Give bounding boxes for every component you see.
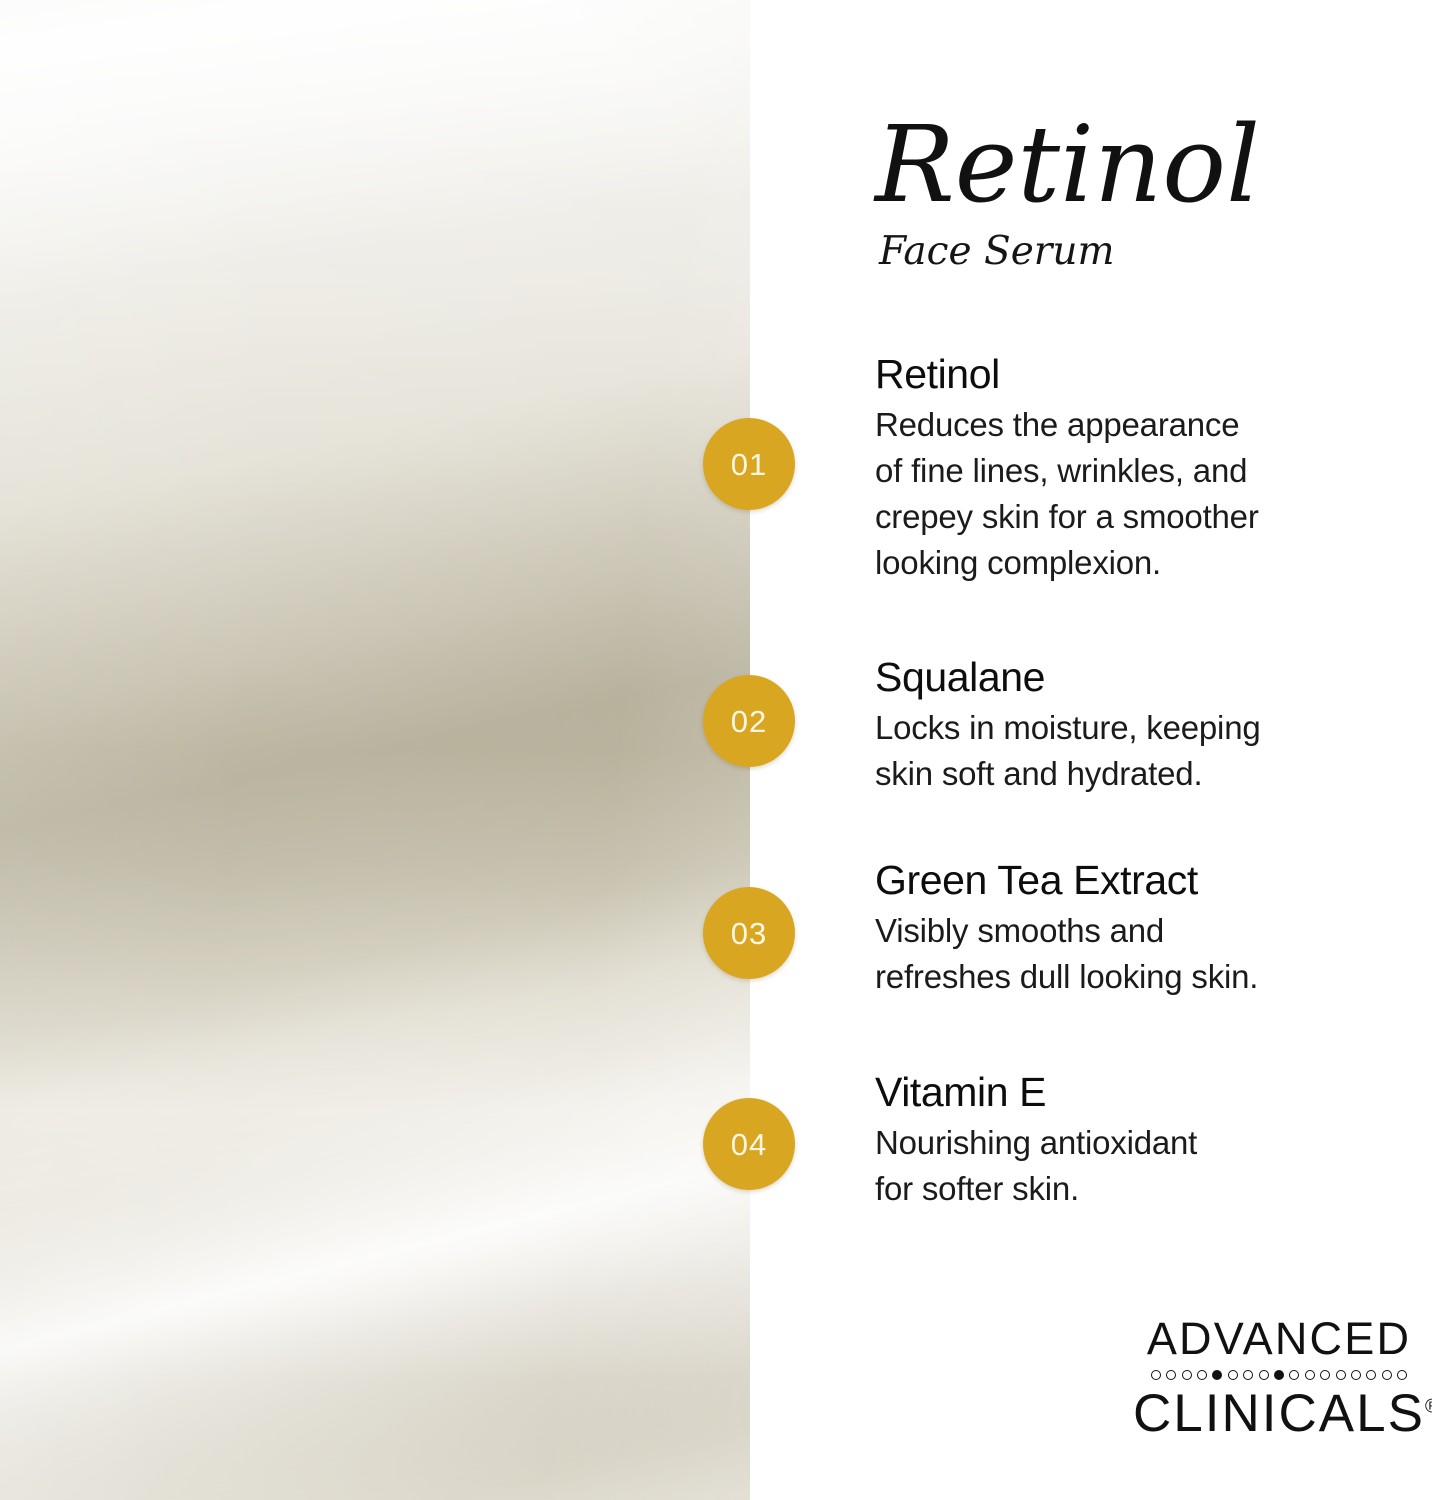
step-badge-01: 01 (703, 418, 795, 510)
brand-logo-line-top: ADVANCED (1133, 1316, 1425, 1361)
brand-dot-hollow (1320, 1370, 1330, 1380)
step-badge-number: 04 (731, 1129, 767, 1160)
brand-dot-filled (1274, 1370, 1284, 1380)
product-texture-photo (0, 0, 750, 1500)
registered-trademark-icon: ® (1425, 1396, 1432, 1417)
product-infographic: Retinol Face Serum 01 Retinol Reduces th… (0, 0, 1432, 1500)
brand-dot-hollow (1305, 1370, 1315, 1380)
feature-heading: Vitamin E (875, 1070, 1355, 1114)
info-panel: Retinol Face Serum 01 Retinol Reduces th… (750, 0, 1432, 1500)
feature-text-02: Squalane Locks in moisture, keeping skin… (875, 655, 1355, 797)
step-badge-04: 04 (703, 1098, 795, 1190)
brand-dot-hollow (1289, 1370, 1299, 1380)
brand-logo: ADVANCED CLINICALS® (1133, 1316, 1425, 1440)
step-badge-number: 01 (731, 449, 767, 480)
brand-dot-hollow (1397, 1370, 1407, 1380)
step-badge-number: 03 (731, 918, 767, 949)
step-badge-03: 03 (703, 887, 795, 979)
feature-text-01: Retinol Reduces the appearance of fine l… (875, 352, 1355, 586)
brand-logo-wordmark: CLINICALS (1133, 1384, 1425, 1443)
brand-dot-hollow (1382, 1370, 1392, 1380)
brand-dot-hollow (1166, 1370, 1176, 1380)
step-badge-02: 02 (703, 675, 795, 767)
step-badge-number: 02 (731, 706, 767, 737)
brand-dot-filled (1212, 1370, 1222, 1380)
photo-vignette (0, 0, 750, 1500)
feature-text-03: Green Tea Extract Visibly smooths and re… (875, 858, 1355, 1000)
feature-heading: Retinol (875, 352, 1355, 396)
brand-logo-line-bottom: CLINICALS® (1133, 1387, 1432, 1440)
brand-dot-hollow (1336, 1370, 1346, 1380)
brand-dot-hollow (1151, 1370, 1161, 1380)
brand-dot-hollow (1228, 1370, 1238, 1380)
brand-dot-hollow (1351, 1370, 1361, 1380)
brand-dot-hollow (1243, 1370, 1253, 1380)
feature-heading: Squalane (875, 655, 1355, 699)
brand-dot-hollow (1197, 1370, 1207, 1380)
feature-description: Locks in moisture, keeping skin soft and… (875, 705, 1355, 797)
feature-description: Reduces the appearance of fine lines, wr… (875, 402, 1355, 586)
feature-description: Visibly smooths and refreshes dull looki… (875, 908, 1355, 1000)
feature-heading: Green Tea Extract (875, 858, 1355, 902)
brand-dot-hollow (1182, 1370, 1192, 1380)
feature-description: Nourishing antioxidant for softer skin. (875, 1120, 1355, 1212)
brand-dot-hollow (1259, 1370, 1269, 1380)
brand-dot-hollow (1366, 1370, 1376, 1380)
feature-text-04: Vitamin E Nourishing antioxidant for sof… (875, 1070, 1355, 1212)
ingredient-feature-list: 01 Retinol Reduces the appearance of fin… (750, 0, 1432, 1500)
brand-logo-dot-row (1133, 1370, 1425, 1380)
